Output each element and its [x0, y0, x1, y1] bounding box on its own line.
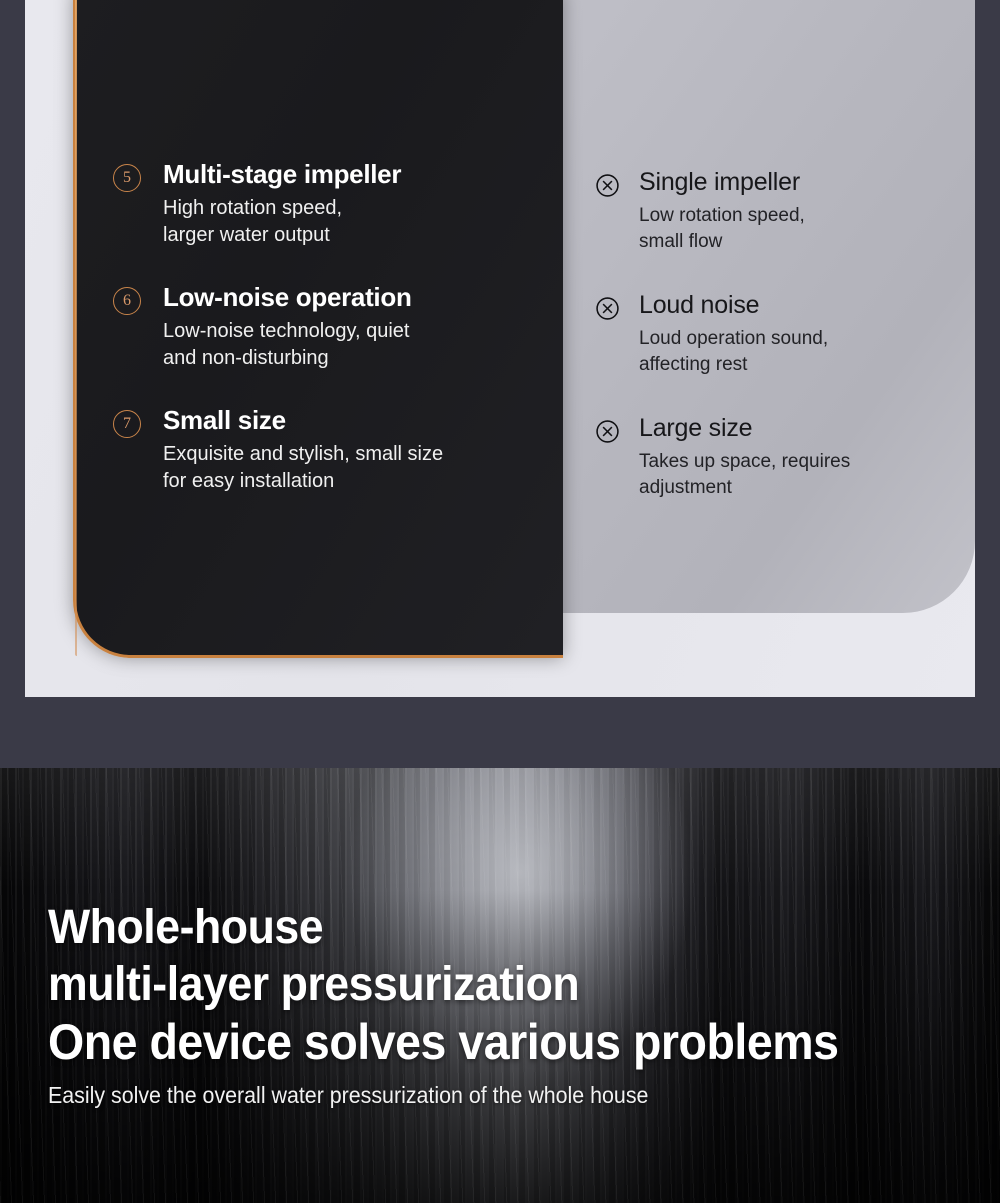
list-item: Single impeller Low rotation speed, smal… — [595, 168, 975, 255]
advantage-title: Multi-stage impeller — [163, 160, 543, 190]
list-item: Large size Takes up space, requires adju… — [595, 414, 975, 501]
advantage-title: Small size — [163, 406, 543, 436]
drawback-title: Loud noise — [639, 291, 975, 320]
drawback-title: Single impeller — [639, 168, 975, 197]
drawback-description: Low rotation speed, small flow — [639, 203, 975, 255]
circle-x-icon — [595, 296, 620, 321]
circle-x-icon — [595, 419, 620, 444]
list-item: 7 Small size Exquisite and stylish, smal… — [113, 406, 543, 495]
hero-subtitle: Easily solve the overall water pressuriz… — [48, 1082, 904, 1109]
list-item: Loud noise Loud operation sound, affecti… — [595, 291, 975, 378]
drawback-description: Loud operation sound, affecting rest — [639, 326, 975, 378]
hero-text-block: Whole-house multi-layer pressurization O… — [48, 900, 968, 1109]
hero-section: Whole-house multi-layer pressurization O… — [0, 768, 1000, 1203]
advantage-title: Low-noise operation — [163, 283, 543, 313]
advantages-list: 5 Multi-stage impeller High rotation spe… — [113, 160, 543, 495]
number-badge-7: 7 — [113, 410, 141, 438]
drawbacks-list: Single impeller Low rotation speed, smal… — [595, 168, 975, 502]
advantage-description: Exquisite and stylish, small size for ea… — [163, 441, 543, 495]
number-badge-5: 5 — [113, 164, 141, 192]
advantage-description: High rotation speed, larger water output — [163, 195, 543, 249]
hero-headline-line1: Whole-house — [48, 900, 904, 957]
comparison-card: 5 Multi-stage impeller High rotation spe… — [25, 0, 975, 697]
comparison-section: 5 Multi-stage impeller High rotation spe… — [0, 0, 1000, 768]
number-badge-6: 6 — [113, 287, 141, 315]
list-item: 6 Low-noise operation Low-noise technolo… — [113, 283, 543, 372]
drawback-description: Takes up space, requires adjustment — [639, 449, 975, 501]
hero-headline-line3: One device solves various problems — [48, 1013, 904, 1072]
page-root: 5 Multi-stage impeller High rotation spe… — [0, 0, 1000, 1203]
list-item: 5 Multi-stage impeller High rotation spe… — [113, 160, 543, 249]
advantage-description: Low-noise technology, quiet and non-dist… — [163, 318, 543, 372]
drawback-title: Large size — [639, 414, 975, 443]
hero-headline-line2: multi-layer pressurization — [48, 957, 904, 1014]
circle-x-icon — [595, 173, 620, 198]
